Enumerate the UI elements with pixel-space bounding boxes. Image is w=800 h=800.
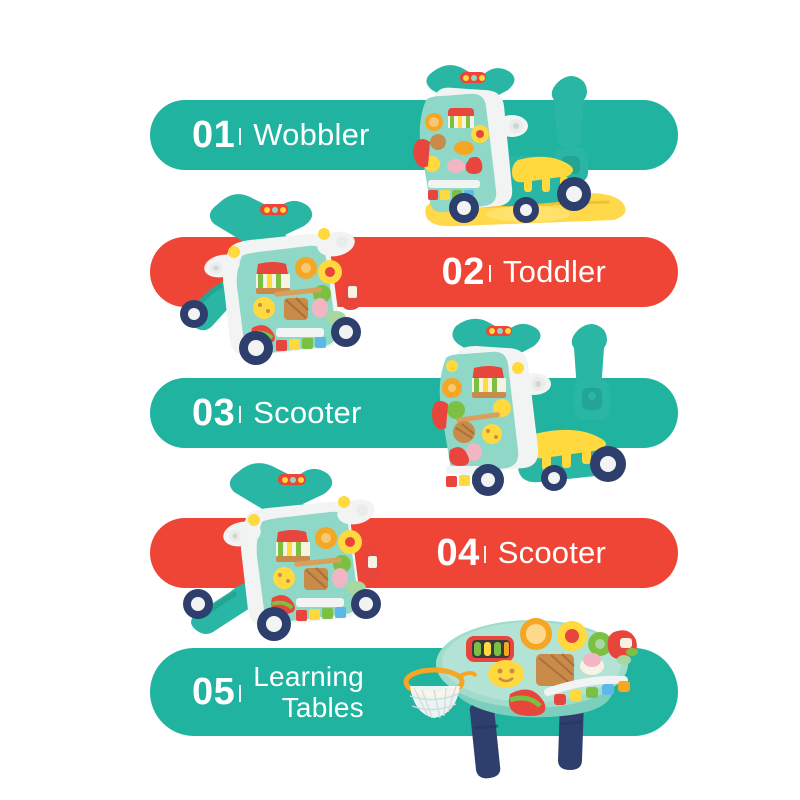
- feature-separator-02: [489, 265, 491, 282]
- feature-title-05-line2: Tables: [253, 692, 364, 723]
- feature-title-04: Scooter: [498, 537, 606, 569]
- feature-band-03[interactable]: 03 Scooter: [150, 378, 678, 448]
- feature-number-05: 05: [192, 673, 235, 711]
- feature-separator-04: [484, 546, 486, 563]
- feature-label-group-01: 01 Wobbler: [192, 116, 370, 154]
- feature-title-03: Scooter: [253, 397, 361, 429]
- feature-title-02: Toddler: [503, 256, 606, 288]
- feature-label-group-03: 03 Scooter: [192, 394, 362, 432]
- product-feature-poster: 01 Wobbler 02 Toddler 03 Scooter 04 Scoo…: [0, 0, 800, 800]
- feature-number-04: 04: [436, 534, 479, 572]
- feature-title-05: Learning Tables: [253, 661, 364, 724]
- feature-title-05-line1: Learning: [253, 661, 364, 692]
- feature-band-05[interactable]: 05 Learning Tables: [150, 648, 678, 736]
- feature-number-01: 01: [192, 116, 235, 154]
- feature-band-04[interactable]: 04 Scooter: [150, 518, 678, 588]
- feature-number-03: 03: [192, 394, 235, 432]
- feature-label-group-04: 04 Scooter: [436, 534, 606, 572]
- feature-separator-03: [239, 406, 241, 423]
- feature-label-group-05: 05 Learning Tables: [192, 661, 364, 724]
- feature-separator-01: [239, 128, 241, 145]
- feature-title-01: Wobbler: [253, 119, 369, 151]
- feature-number-02: 02: [442, 253, 485, 291]
- feature-label-group-02: 02 Toddler: [442, 253, 606, 291]
- feature-separator-05: [239, 685, 241, 702]
- feature-band-02[interactable]: 02 Toddler: [150, 237, 678, 307]
- feature-band-01[interactable]: 01 Wobbler: [150, 100, 678, 170]
